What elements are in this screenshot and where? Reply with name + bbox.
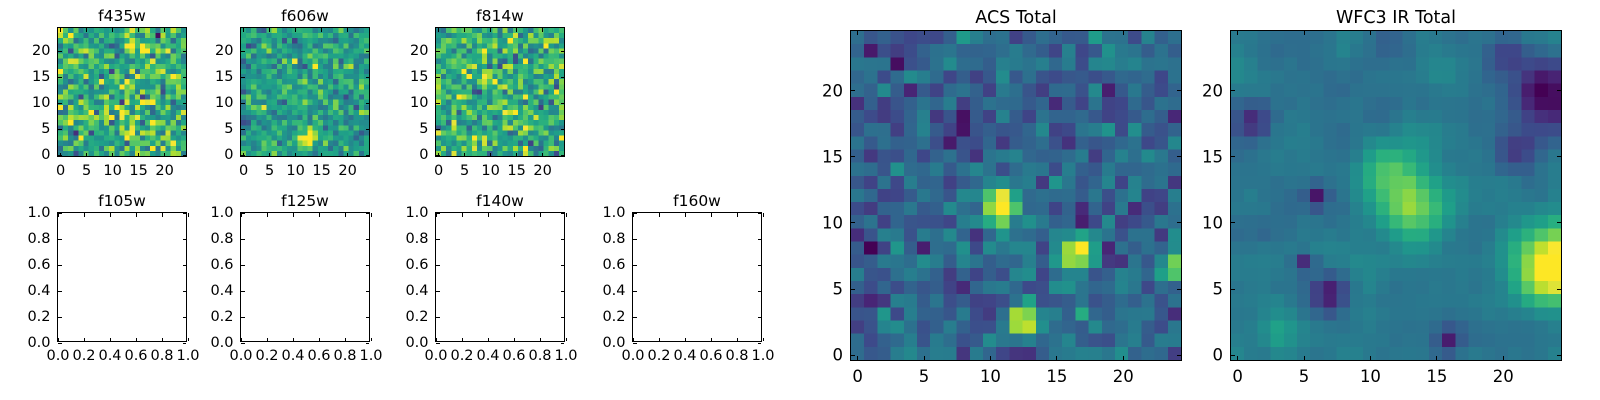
ytick-f435w-0 <box>58 155 62 156</box>
xtick-top-f606w-1 <box>269 28 270 32</box>
ytick-right-f160w-2 <box>758 291 762 292</box>
xtick-top-acs-total-0 <box>857 31 858 35</box>
xtick-acs-total-4 <box>1123 356 1124 360</box>
xticklabel-acs-total-1: 5 <box>919 367 930 386</box>
ytick-f125w-0 <box>241 343 245 344</box>
ytick-f160w-0 <box>633 343 637 344</box>
ytick-acs-total-3 <box>851 156 855 157</box>
xtick-top-f105w-5 <box>188 213 189 217</box>
yticklabel-f814w-3: 15 <box>410 69 428 85</box>
xtick-top-wfc3-ir-total-1 <box>1304 31 1305 35</box>
xtick-wfc3-ir-total-3 <box>1436 356 1437 360</box>
xticklabel-acs-total-2: 10 <box>980 367 1001 386</box>
xtick-f160w-3 <box>711 338 712 342</box>
ytick-right-f105w-5 <box>183 213 187 214</box>
ytick-right-f160w-5 <box>758 213 762 214</box>
xtick-acs-total-2 <box>990 356 991 360</box>
xtick-f140w-0 <box>436 338 437 342</box>
ytick-f125w-5 <box>241 213 245 214</box>
xticklabel-f160w-3: 0.6 <box>699 348 722 364</box>
xtick-top-f125w-2 <box>293 213 294 217</box>
ytick-f160w-4 <box>633 239 637 240</box>
xtick-f160w-0 <box>633 338 634 342</box>
xticklabel-f606w-0: 0 <box>239 163 248 179</box>
xtick-f160w-4 <box>737 338 738 342</box>
ytick-right-f105w-2 <box>183 291 187 292</box>
yticklabel-f814w-4: 20 <box>410 43 428 59</box>
xticklabel-f125w-2: 0.4 <box>281 348 304 364</box>
yticklabel-f814w-0: 0 <box>419 147 428 163</box>
xticklabel-f160w-1: 0.2 <box>647 348 670 364</box>
ytick-right-f105w-1 <box>183 317 187 318</box>
yticklabel-f435w-0: 0 <box>41 147 50 163</box>
axes-title-f140w: f140w <box>436 192 564 210</box>
ytick-right-f140w-2 <box>561 291 565 292</box>
ytick-f140w-5 <box>436 213 440 214</box>
yticklabel-f105w-4: 0.8 <box>27 231 50 247</box>
ytick-f105w-1 <box>58 317 62 318</box>
ytick-f814w-2 <box>436 103 440 104</box>
xtick-top-f105w-4 <box>162 213 163 217</box>
xticklabel-f435w-1: 5 <box>82 163 91 179</box>
ytick-acs-total-1 <box>851 289 855 290</box>
ytick-right-f160w-0 <box>758 343 762 344</box>
ytick-f435w-2 <box>58 103 62 104</box>
ytick-acs-total-2 <box>851 222 855 223</box>
xtick-top-f125w-0 <box>241 213 242 217</box>
axes-title-f160w: f160w <box>633 192 761 210</box>
xticklabel-f105w-2: 0.4 <box>98 348 121 364</box>
ytick-right-f814w-3 <box>561 77 565 78</box>
ytick-acs-total-4 <box>851 90 855 91</box>
xtick-top-f160w-0 <box>633 213 634 217</box>
yticklabel-f435w-4: 20 <box>32 43 50 59</box>
ytick-f125w-3 <box>241 265 245 266</box>
xticklabel-f140w-2: 0.4 <box>476 348 499 364</box>
yticklabel-f160w-5: 1.0 <box>602 205 625 221</box>
xtick-f125w-3 <box>319 338 320 342</box>
yticklabel-f606w-1: 5 <box>224 121 233 137</box>
ytick-right-f125w-0 <box>366 343 370 344</box>
ytick-right-f435w-3 <box>183 77 187 78</box>
ytick-right-f606w-1 <box>366 129 370 130</box>
yticklabel-f125w-0: 0.0 <box>210 335 233 351</box>
yticklabel-f105w-0: 0.0 <box>27 335 50 351</box>
ytick-right-f140w-3 <box>561 265 565 266</box>
ytick-right-f105w-0 <box>183 343 187 344</box>
ytick-right-f140w-0 <box>561 343 565 344</box>
ytick-wfc3-ir-total-2 <box>1231 222 1235 223</box>
xtick-f105w-3 <box>136 338 137 342</box>
ytick-acs-total-0 <box>851 355 855 356</box>
ytick-right-acs-total-3 <box>1177 156 1181 157</box>
heatmap-image-f814w <box>436 28 564 156</box>
xticklabel-wfc3-ir-total-0: 0 <box>1232 367 1243 386</box>
heatmap-image-wfc3-ir-total <box>1231 31 1561 360</box>
xtick-f105w-1 <box>84 338 85 342</box>
axes-title-f814w: f814w <box>436 7 564 25</box>
xtick-f814w-4 <box>542 153 543 157</box>
ytick-right-f814w-0 <box>561 155 565 156</box>
heatmap-image-acs-total <box>851 31 1181 360</box>
xtick-top-f814w-3 <box>516 28 517 32</box>
xtick-top-f435w-4 <box>164 28 165 32</box>
xtick-f140w-1 <box>462 338 463 342</box>
ytick-right-wfc3-ir-total-0 <box>1557 355 1561 356</box>
ytick-f435w-4 <box>58 51 62 52</box>
xtick-f125w-1 <box>267 338 268 342</box>
ytick-right-f125w-4 <box>366 239 370 240</box>
yticklabel-f105w-1: 0.2 <box>27 309 50 325</box>
xtick-f435w-3 <box>138 153 139 157</box>
xtick-top-f814w-2 <box>490 28 491 32</box>
xticklabel-f105w-3: 0.6 <box>124 348 147 364</box>
ytick-right-f125w-2 <box>366 291 370 292</box>
yticklabel-f105w-3: 0.6 <box>27 257 50 273</box>
axes-f140w: f140w0.00.20.40.60.81.00.00.20.40.60.81.… <box>435 212 565 342</box>
yticklabel-wfc3-ir-total-0: 0 <box>1213 346 1224 365</box>
xtick-top-f814w-1 <box>464 28 465 32</box>
xtick-wfc3-ir-total-1 <box>1304 356 1305 360</box>
yticklabel-f140w-4: 0.8 <box>405 231 428 247</box>
yticklabel-f140w-1: 0.2 <box>405 309 428 325</box>
xtick-f814w-1 <box>464 153 465 157</box>
ytick-right-f435w-1 <box>183 129 187 130</box>
xtick-top-wfc3-ir-total-4 <box>1503 31 1504 35</box>
ytick-right-f160w-3 <box>758 265 762 266</box>
ytick-f105w-4 <box>58 239 62 240</box>
xtick-top-f435w-2 <box>112 28 113 32</box>
xticklabel-wfc3-ir-total-4: 20 <box>1493 367 1514 386</box>
ytick-f125w-2 <box>241 291 245 292</box>
axes-f814w: f814w0510152005101520 <box>435 27 565 157</box>
ytick-right-wfc3-ir-total-4 <box>1557 90 1561 91</box>
yticklabel-f105w-5: 1.0 <box>27 205 50 221</box>
xticklabel-acs-total-3: 15 <box>1046 367 1067 386</box>
xtick-top-f125w-5 <box>371 213 372 217</box>
yticklabel-f606w-2: 10 <box>215 95 233 111</box>
xtick-top-f105w-3 <box>136 213 137 217</box>
xtick-top-wfc3-ir-total-3 <box>1436 31 1437 35</box>
ytick-right-f435w-2 <box>183 103 187 104</box>
xtick-acs-total-1 <box>924 356 925 360</box>
xtick-wfc3-ir-total-2 <box>1370 356 1371 360</box>
xticklabel-f105w-1: 0.2 <box>72 348 95 364</box>
xtick-f125w-0 <box>241 338 242 342</box>
ytick-wfc3-ir-total-1 <box>1231 289 1235 290</box>
ytick-f105w-3 <box>58 265 62 266</box>
xtick-f125w-5 <box>371 338 372 342</box>
ytick-f814w-3 <box>436 77 440 78</box>
ytick-f606w-4 <box>241 51 245 52</box>
xticklabel-f125w-5: 1.0 <box>359 348 382 364</box>
xtick-acs-total-3 <box>1056 356 1057 360</box>
ytick-f105w-5 <box>58 213 62 214</box>
xticklabel-wfc3-ir-total-3: 15 <box>1426 367 1447 386</box>
xtick-top-f160w-1 <box>659 213 660 217</box>
yticklabel-f814w-1: 5 <box>419 121 428 137</box>
ytick-f435w-1 <box>58 129 62 130</box>
xticklabel-f160w-5: 1.0 <box>751 348 774 364</box>
xticklabel-f435w-3: 15 <box>129 163 147 179</box>
ytick-right-acs-total-1 <box>1177 289 1181 290</box>
xtick-top-f160w-2 <box>685 213 686 217</box>
xtick-top-f160w-4 <box>737 213 738 217</box>
yticklabel-f125w-1: 0.2 <box>210 309 233 325</box>
xticklabel-f435w-0: 0 <box>56 163 65 179</box>
ytick-f140w-0 <box>436 343 440 344</box>
xtick-top-acs-total-3 <box>1056 31 1057 35</box>
xtick-top-f105w-0 <box>58 213 59 217</box>
xtick-top-acs-total-1 <box>924 31 925 35</box>
xticklabel-f140w-4: 0.8 <box>528 348 551 364</box>
ytick-f125w-1 <box>241 317 245 318</box>
ytick-right-f435w-4 <box>183 51 187 52</box>
ytick-right-acs-total-0 <box>1177 355 1181 356</box>
heatmap-image-f435w <box>58 28 186 156</box>
xticklabel-f140w-5: 1.0 <box>554 348 577 364</box>
xticklabel-f125w-1: 0.2 <box>255 348 278 364</box>
ytick-right-f814w-4 <box>561 51 565 52</box>
xticklabel-f140w-1: 0.2 <box>450 348 473 364</box>
xtick-f140w-4 <box>540 338 541 342</box>
yticklabel-wfc3-ir-total-1: 5 <box>1213 280 1224 299</box>
xtick-f606w-2 <box>295 153 296 157</box>
yticklabel-f140w-3: 0.6 <box>405 257 428 273</box>
ytick-right-f606w-2 <box>366 103 370 104</box>
ytick-right-f125w-1 <box>366 317 370 318</box>
ytick-f140w-2 <box>436 291 440 292</box>
ytick-f606w-2 <box>241 103 245 104</box>
axes-title-f435w: f435w <box>58 7 186 25</box>
ytick-right-f814w-1 <box>561 129 565 130</box>
ytick-right-f606w-3 <box>366 77 370 78</box>
xtick-top-wfc3-ir-total-0 <box>1237 31 1238 35</box>
xtick-f105w-4 <box>162 338 163 342</box>
axes-f606w: f606w0510152005101520 <box>240 27 370 157</box>
xtick-f140w-3 <box>514 338 515 342</box>
xticklabel-acs-total-0: 0 <box>852 367 863 386</box>
xticklabel-f606w-3: 15 <box>312 163 330 179</box>
ytick-f814w-0 <box>436 155 440 156</box>
xtick-f125w-4 <box>345 338 346 342</box>
yticklabel-f125w-3: 0.6 <box>210 257 233 273</box>
axes-title-wfc3-ir-total: WFC3 IR Total <box>1231 8 1561 28</box>
axes-title-acs-total: ACS Total <box>851 8 1181 28</box>
xtick-top-acs-total-2 <box>990 31 991 35</box>
xtick-f606w-4 <box>347 153 348 157</box>
xtick-top-f140w-3 <box>514 213 515 217</box>
ytick-right-f435w-0 <box>183 155 187 156</box>
yticklabel-acs-total-3: 15 <box>822 147 843 166</box>
xticklabel-f125w-3: 0.6 <box>307 348 330 364</box>
yticklabel-wfc3-ir-total-3: 15 <box>1202 147 1223 166</box>
yticklabel-f606w-3: 15 <box>215 69 233 85</box>
axes-title-f606w: f606w <box>241 7 369 25</box>
ytick-right-f125w-3 <box>366 265 370 266</box>
axes-title-f125w: f125w <box>241 192 369 210</box>
xtick-f140w-2 <box>488 338 489 342</box>
ytick-wfc3-ir-total-0 <box>1231 355 1235 356</box>
xticklabel-f435w-2: 10 <box>103 163 121 179</box>
xtick-top-f140w-0 <box>436 213 437 217</box>
xticklabel-f606w-4: 20 <box>338 163 356 179</box>
ytick-right-wfc3-ir-total-3 <box>1557 156 1561 157</box>
ytick-wfc3-ir-total-3 <box>1231 156 1235 157</box>
yticklabel-f125w-5: 1.0 <box>210 205 233 221</box>
xticklabel-wfc3-ir-total-2: 10 <box>1360 367 1381 386</box>
xtick-f105w-5 <box>188 338 189 342</box>
yticklabel-acs-total-4: 20 <box>822 81 843 100</box>
axes-f105w: f105w0.00.20.40.60.81.00.00.20.40.60.81.… <box>57 212 187 342</box>
yticklabel-f140w-0: 0.0 <box>405 335 428 351</box>
yticklabel-f160w-4: 0.8 <box>602 231 625 247</box>
yticklabel-f140w-5: 1.0 <box>405 205 428 221</box>
yticklabel-f435w-2: 10 <box>32 95 50 111</box>
xtick-top-f814w-0 <box>438 28 439 32</box>
xtick-top-f160w-5 <box>763 213 764 217</box>
ytick-f105w-2 <box>58 291 62 292</box>
xticklabel-wfc3-ir-total-1: 5 <box>1299 367 1310 386</box>
xtick-top-f435w-0 <box>60 28 61 32</box>
ytick-f814w-4 <box>436 51 440 52</box>
xtick-top-f435w-1 <box>86 28 87 32</box>
xtick-top-f125w-4 <box>345 213 346 217</box>
xtick-top-f105w-2 <box>110 213 111 217</box>
xtick-f105w-2 <box>110 338 111 342</box>
axes-acs-total: ACS Total0510152005101520 <box>850 30 1182 361</box>
xtick-top-f435w-3 <box>138 28 139 32</box>
figure-canvas: f435w0510152005101520f606w05101520051015… <box>0 0 1600 400</box>
yticklabel-f160w-3: 0.6 <box>602 257 625 273</box>
xtick-top-acs-total-4 <box>1123 31 1124 35</box>
yticklabel-f435w-3: 15 <box>32 69 50 85</box>
ytick-f814w-1 <box>436 129 440 130</box>
ytick-right-acs-total-4 <box>1177 90 1181 91</box>
ytick-right-f140w-1 <box>561 317 565 318</box>
ytick-right-f140w-5 <box>561 213 565 214</box>
yticklabel-f125w-2: 0.4 <box>210 283 233 299</box>
xticklabel-f160w-4: 0.8 <box>725 348 748 364</box>
xticklabel-f814w-4: 20 <box>533 163 551 179</box>
yticklabel-f814w-2: 10 <box>410 95 428 111</box>
xtick-f606w-3 <box>321 153 322 157</box>
ytick-right-f105w-3 <box>183 265 187 266</box>
yticklabel-f160w-0: 0.0 <box>602 335 625 351</box>
yticklabel-f105w-2: 0.4 <box>27 283 50 299</box>
xtick-acs-total-0 <box>857 356 858 360</box>
yticklabel-f160w-2: 0.4 <box>602 283 625 299</box>
xtick-f160w-5 <box>763 338 764 342</box>
xtick-top-f140w-2 <box>488 213 489 217</box>
yticklabel-f606w-4: 20 <box>215 43 233 59</box>
ytick-f606w-1 <box>241 129 245 130</box>
ytick-right-f606w-0 <box>366 155 370 156</box>
axes-f160w: f160w0.00.20.40.60.81.00.00.20.40.60.81.… <box>632 212 762 342</box>
axes-title-f105w: f105w <box>58 192 186 210</box>
yticklabel-acs-total-2: 10 <box>822 213 843 232</box>
xticklabel-f606w-2: 10 <box>286 163 304 179</box>
ytick-right-f140w-4 <box>561 239 565 240</box>
xtick-f814w-3 <box>516 153 517 157</box>
xtick-top-f105w-1 <box>84 213 85 217</box>
xtick-top-f160w-3 <box>711 213 712 217</box>
xtick-top-f140w-5 <box>566 213 567 217</box>
yticklabel-acs-total-0: 0 <box>833 346 844 365</box>
ytick-f160w-2 <box>633 291 637 292</box>
xtick-f814w-2 <box>490 153 491 157</box>
ytick-f140w-4 <box>436 239 440 240</box>
ytick-f105w-0 <box>58 343 62 344</box>
ytick-f160w-1 <box>633 317 637 318</box>
xtick-top-wfc3-ir-total-2 <box>1370 31 1371 35</box>
axes-wfc3-ir-total: WFC3 IR Total0510152005101520 <box>1230 30 1562 361</box>
ytick-f435w-3 <box>58 77 62 78</box>
xtick-wfc3-ir-total-4 <box>1503 356 1504 360</box>
ytick-right-f125w-5 <box>366 213 370 214</box>
xticklabel-f814w-3: 15 <box>507 163 525 179</box>
xticklabel-f140w-3: 0.6 <box>502 348 525 364</box>
ytick-f606w-0 <box>241 155 245 156</box>
xticklabel-f814w-0: 0 <box>434 163 443 179</box>
xtick-top-f140w-4 <box>540 213 541 217</box>
ytick-right-f160w-4 <box>758 239 762 240</box>
yticklabel-f140w-2: 0.4 <box>405 283 428 299</box>
xticklabel-acs-total-4: 20 <box>1113 367 1134 386</box>
axes-f125w: f125w0.00.20.40.60.81.00.00.20.40.60.81.… <box>240 212 370 342</box>
ytick-f125w-4 <box>241 239 245 240</box>
xticklabel-f105w-4: 0.8 <box>150 348 173 364</box>
xtick-top-f606w-2 <box>295 28 296 32</box>
ytick-f140w-1 <box>436 317 440 318</box>
ytick-wfc3-ir-total-4 <box>1231 90 1235 91</box>
yticklabel-f606w-0: 0 <box>224 147 233 163</box>
axes-f435w: f435w0510152005101520 <box>57 27 187 157</box>
ytick-right-wfc3-ir-total-2 <box>1557 222 1561 223</box>
xtick-f160w-2 <box>685 338 686 342</box>
ytick-f606w-3 <box>241 77 245 78</box>
xticklabel-f814w-2: 10 <box>481 163 499 179</box>
ytick-f160w-5 <box>633 213 637 214</box>
yticklabel-f125w-4: 0.8 <box>210 231 233 247</box>
xtick-f105w-0 <box>58 338 59 342</box>
ytick-right-f160w-1 <box>758 317 762 318</box>
ytick-f160w-3 <box>633 265 637 266</box>
xticklabel-f125w-4: 0.8 <box>333 348 356 364</box>
xtick-top-f606w-4 <box>347 28 348 32</box>
heatmap-image-f606w <box>241 28 369 156</box>
xtick-f435w-2 <box>112 153 113 157</box>
xtick-f606w-1 <box>269 153 270 157</box>
ytick-right-wfc3-ir-total-1 <box>1557 289 1561 290</box>
xtick-top-f125w-1 <box>267 213 268 217</box>
xtick-f160w-1 <box>659 338 660 342</box>
ytick-right-f105w-4 <box>183 239 187 240</box>
xticklabel-f814w-1: 5 <box>460 163 469 179</box>
yticklabel-f435w-1: 5 <box>41 121 50 137</box>
yticklabel-acs-total-1: 5 <box>833 280 844 299</box>
xtick-f435w-1 <box>86 153 87 157</box>
xtick-top-f814w-4 <box>542 28 543 32</box>
xtick-top-f125w-3 <box>319 213 320 217</box>
ytick-right-f814w-2 <box>561 103 565 104</box>
xtick-top-f606w-3 <box>321 28 322 32</box>
ytick-right-acs-total-2 <box>1177 222 1181 223</box>
yticklabel-wfc3-ir-total-2: 10 <box>1202 213 1223 232</box>
xticklabel-f606w-1: 5 <box>265 163 274 179</box>
xticklabel-f435w-4: 20 <box>155 163 173 179</box>
xtick-top-f140w-1 <box>462 213 463 217</box>
